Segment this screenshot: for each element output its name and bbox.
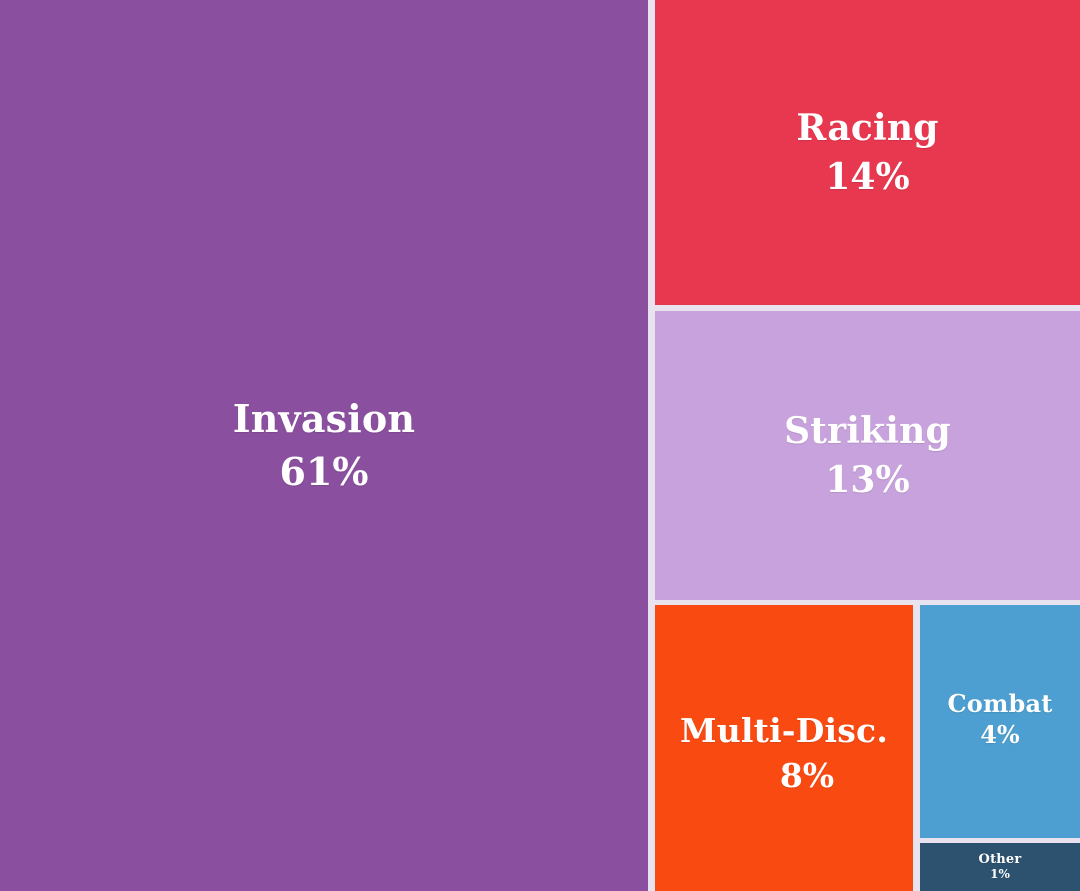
treemap-tile-value-multi-disc: 8% (780, 758, 834, 795)
treemap-tile-label-striking: Striking (784, 411, 951, 451)
treemap-tile-other[interactable]: Other 1% (920, 843, 1080, 891)
treemap-tile-label-other: Other (979, 853, 1022, 868)
treemap-tile-value-striking: 13% (825, 460, 909, 500)
treemap-tile-label-racing: Racing (796, 108, 938, 148)
treemap-tile-value-racing: 14% (825, 157, 909, 197)
treemap-chart: Invasion 61% Racing 14% Striking 13% Mul… (0, 0, 1080, 891)
treemap-tile-combat[interactable]: Combat 4% (920, 605, 1080, 838)
treemap-tile-value-combat: 4% (980, 722, 1020, 749)
treemap-tile-label-invasion: Invasion (233, 398, 416, 441)
treemap-tile-value-invasion: 61% (280, 451, 369, 494)
treemap-tile-multi-disc[interactable]: Multi-Disc. 8% (655, 605, 913, 891)
treemap-tile-value-other: 1% (990, 868, 1010, 881)
treemap-tile-label-combat: Combat (947, 691, 1052, 718)
treemap-tile-racing[interactable]: Racing 14% (655, 0, 1080, 305)
treemap-tile-invasion[interactable]: Invasion 61% (0, 0, 648, 891)
treemap-tile-label-multi-disc: Multi-Disc. (680, 713, 888, 750)
treemap-tile-striking[interactable]: Striking 13% (655, 311, 1080, 600)
